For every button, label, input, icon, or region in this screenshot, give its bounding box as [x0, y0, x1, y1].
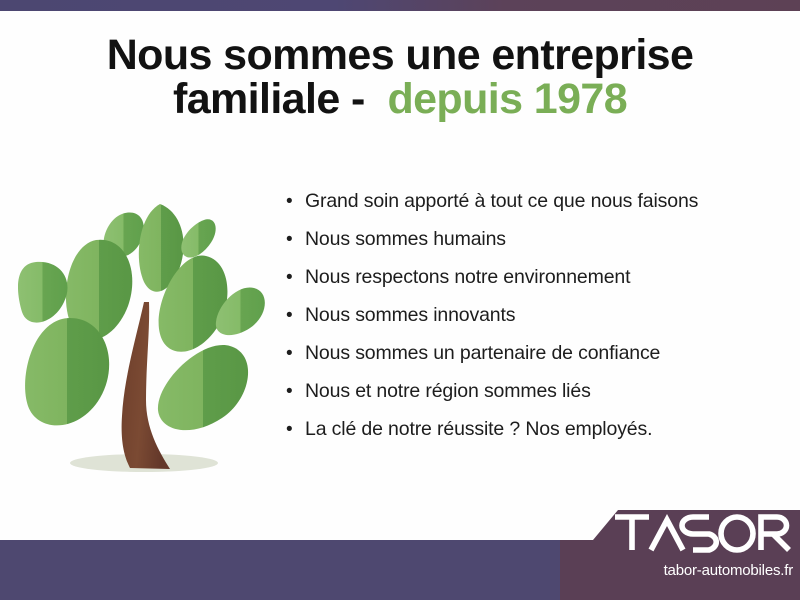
list-item-label: Nous respectons notre environnement	[305, 266, 630, 289]
bullet-marker-icon: •	[286, 344, 305, 363]
logo-tagline[interactable]: tabor-automobiles.fr	[560, 562, 793, 579]
list-item: • Nous sommes humains	[286, 228, 756, 266]
title-line-2-accent: depuis 1978	[387, 75, 627, 123]
top-accent-band	[0, 0, 800, 11]
stylized-tree-icon	[18, 178, 274, 494]
list-item-label: Nous sommes innovants	[305, 304, 515, 327]
value-bullet-list: • Grand soin apporté à tout ce que nous …	[286, 190, 756, 456]
list-item: • Nous et notre région sommes liés	[286, 380, 756, 418]
list-item: • Nous sommes un partenaire de confiance	[286, 342, 756, 380]
leaf-lower-left	[25, 318, 109, 425]
bullet-marker-icon: •	[286, 306, 305, 325]
list-item: • Grand soin apporté à tout ce que nous …	[286, 190, 756, 228]
bullet-marker-icon: •	[286, 192, 305, 211]
list-item-label: Nous sommes humains	[305, 228, 506, 251]
title-line-2: familiale - depuis 1978	[0, 78, 800, 122]
leaf-mid-left	[18, 262, 68, 323]
leaf-top-right	[181, 219, 215, 257]
title-line-2-plain: familiale -	[173, 75, 365, 123]
list-item-label: Grand soin apporté à tout ce que nous fa…	[305, 190, 698, 213]
list-item: • La clé de notre réussite ? Nos employé…	[286, 418, 756, 456]
page-title: Nous sommes une entreprise familiale - d…	[0, 34, 800, 122]
bullet-marker-icon: •	[286, 230, 305, 249]
presentation-slide: Nous sommes une entreprise familiale - d…	[0, 0, 800, 600]
list-item: • Nous sommes innovants	[286, 304, 756, 342]
list-item: • Nous respectons notre environnement	[286, 266, 756, 304]
list-item-label: Nous sommes un partenaire de confiance	[305, 342, 660, 365]
bullet-marker-icon: •	[286, 420, 305, 439]
bullet-marker-icon: •	[286, 268, 305, 287]
leaf-lower-right	[158, 345, 248, 430]
bullet-marker-icon: •	[286, 382, 305, 401]
list-item-label: Nous et notre région sommes liés	[305, 380, 591, 403]
tabor-logo[interactable]	[613, 512, 793, 554]
list-item-label: La clé de notre réussite ? Nos employés.	[305, 418, 652, 441]
title-line-1: Nous sommes une entreprise	[0, 34, 800, 78]
